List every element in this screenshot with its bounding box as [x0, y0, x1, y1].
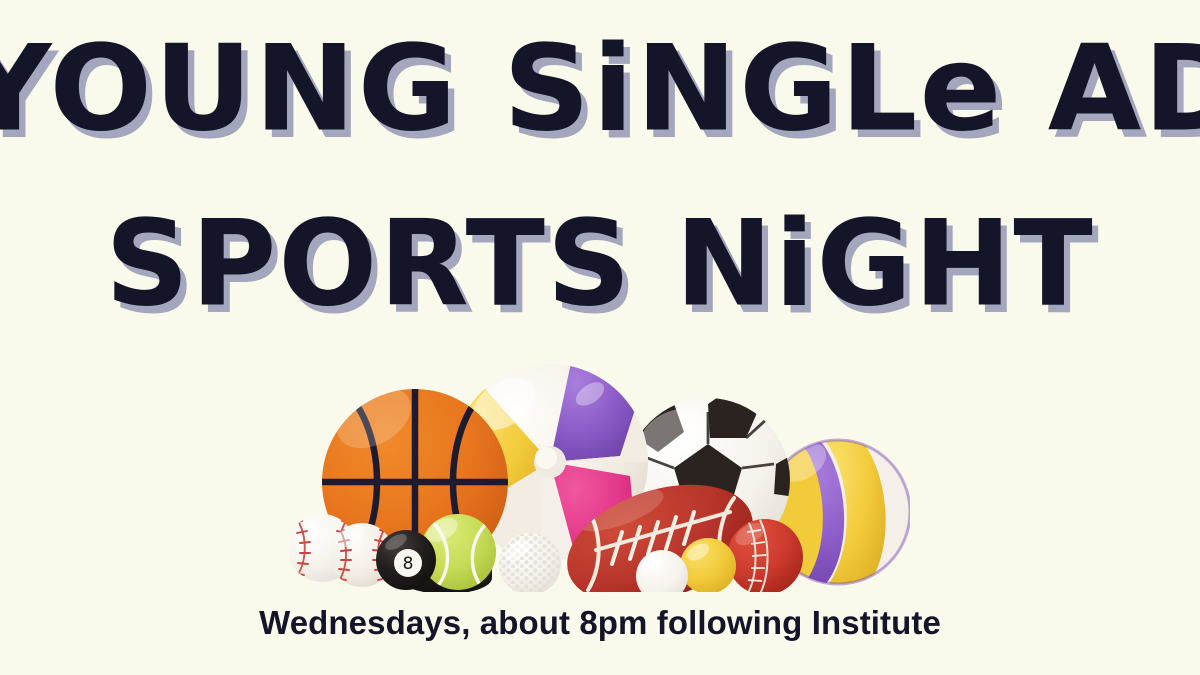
sports-balls-illustration: 8	[290, 352, 910, 592]
eight-ball-icon: 8	[376, 530, 436, 590]
event-caption: Wednesdays, about 8pm following Institut…	[0, 604, 1200, 642]
yellow-ball-icon	[680, 538, 736, 592]
eight-ball-number: 8	[403, 554, 414, 574]
headline-line-1: YOUNG SiNGLe ADULT	[0, 32, 1200, 146]
headline-block: YOUNG SiNGLe ADULT SPORTS NiGHT	[0, 34, 1200, 319]
headline-line-2: SPORTS NiGHT	[0, 207, 1200, 321]
poster-canvas: YOUNG SiNGLe ADULT SPORTS NiGHT	[0, 0, 1200, 675]
